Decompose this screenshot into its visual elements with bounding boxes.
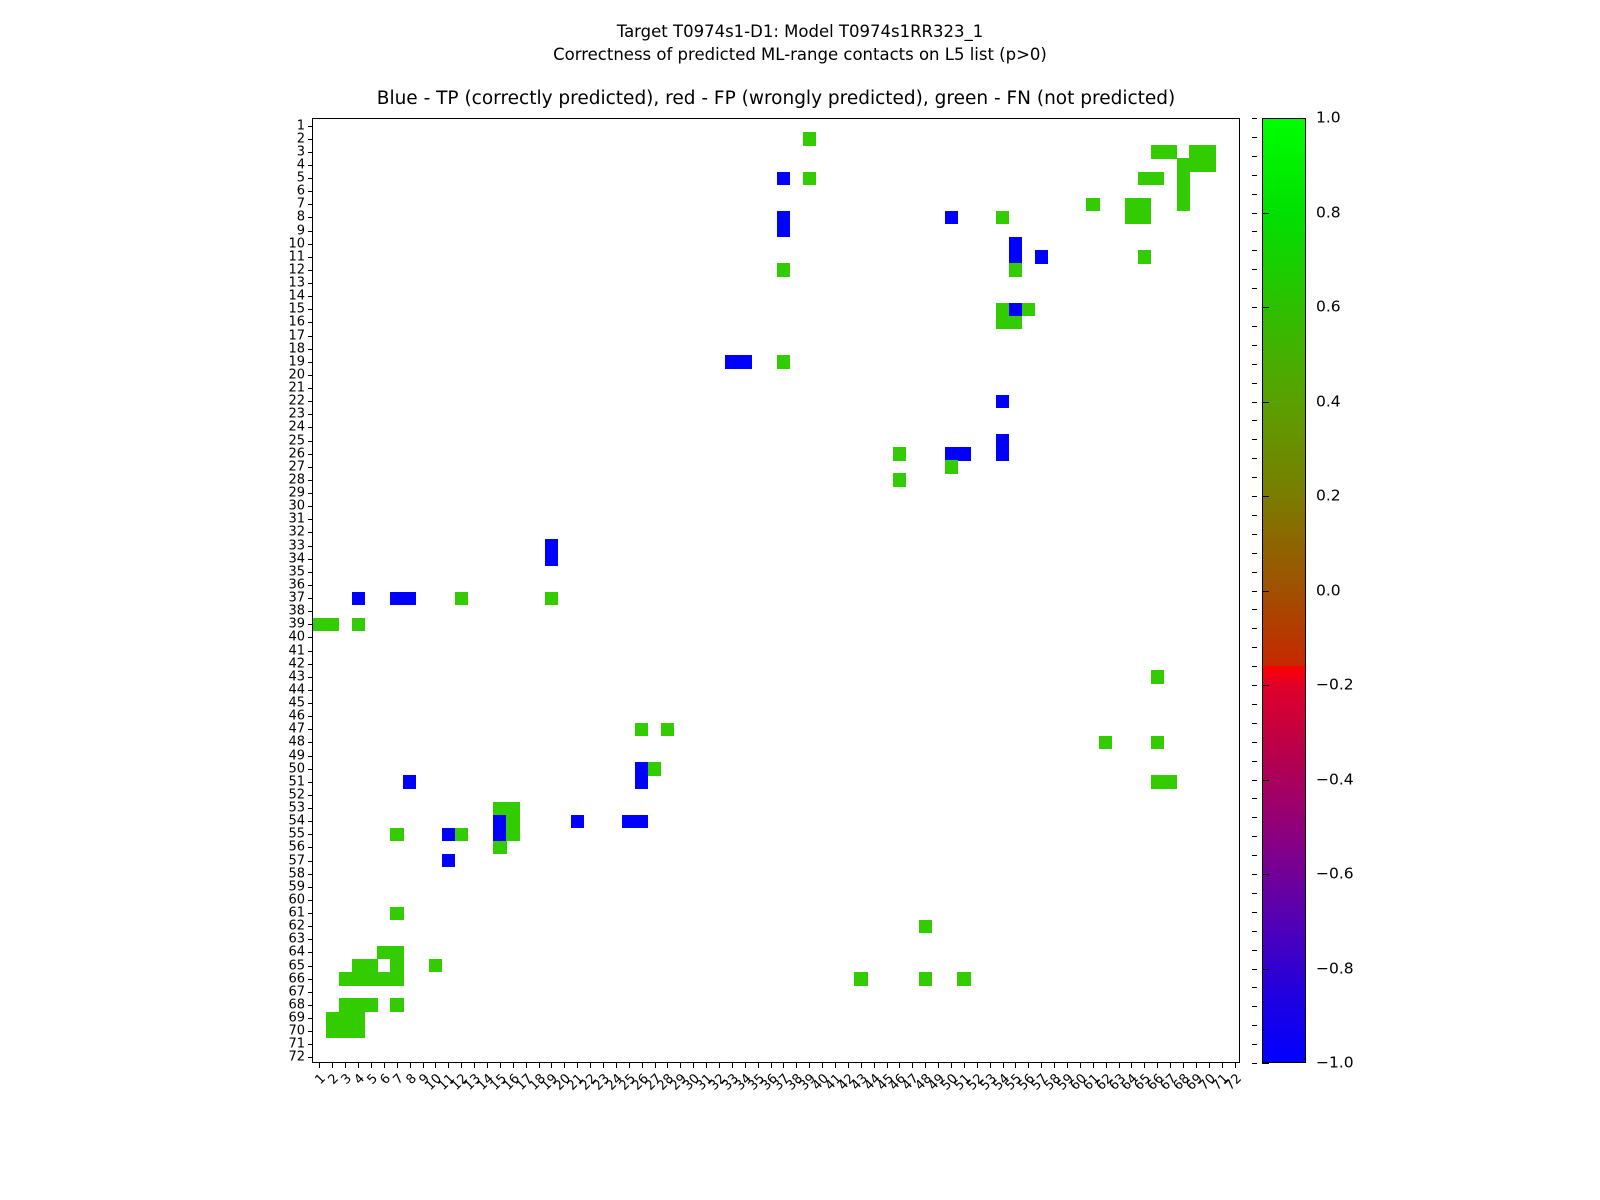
- colorbar-minor-tick: [1252, 987, 1257, 988]
- colorbar-minor-tick: [1252, 439, 1257, 440]
- colorbar-minor-tick: [1252, 269, 1257, 270]
- colorbar-tick-label: −0.6: [1316, 866, 1354, 882]
- y-tick-mark: [308, 992, 314, 993]
- contact-cell: [854, 972, 867, 985]
- y-tick-label: 49: [265, 749, 305, 762]
- y-tick-label: 7: [265, 198, 305, 211]
- x-tick-mark: [487, 1062, 488, 1068]
- x-tick-mark: [474, 1062, 475, 1068]
- y-tick-label: 33: [265, 539, 305, 552]
- y-tick-mark: [308, 427, 314, 428]
- x-tick-mark: [1054, 1062, 1055, 1068]
- contact-cell: [635, 762, 648, 775]
- x-tick-mark: [706, 1062, 707, 1068]
- contact-cell: [957, 447, 970, 460]
- y-tick-label: 65: [265, 959, 305, 972]
- colorbar-minor-tick: [1252, 213, 1257, 214]
- colorbar-tick-label: 0.8: [1316, 205, 1341, 221]
- contact-cell: [635, 775, 648, 788]
- colorbar-tick-label: 1.0: [1316, 110, 1341, 126]
- x-tick-mark: [938, 1062, 939, 1068]
- y-tick-mark: [308, 519, 314, 520]
- contact-cell: [390, 998, 403, 1011]
- y-tick-mark: [308, 979, 314, 980]
- y-tick-mark: [308, 952, 314, 953]
- contact-cell: [442, 854, 455, 867]
- y-tick-label: 45: [265, 697, 305, 710]
- x-tick-mark: [551, 1062, 552, 1068]
- y-tick-mark: [308, 152, 314, 153]
- y-tick-mark: [308, 887, 314, 888]
- y-tick-mark: [308, 480, 314, 481]
- x-tick-mark: [667, 1062, 668, 1068]
- y-tick-mark: [308, 1005, 314, 1006]
- contact-cell: [313, 618, 326, 631]
- y-tick-label: 64: [265, 946, 305, 959]
- contact-cell: [1138, 172, 1151, 185]
- y-tick-mark: [308, 847, 314, 848]
- y-tick-mark: [308, 651, 314, 652]
- contact-cell: [777, 224, 790, 237]
- contact-cell: [390, 907, 403, 920]
- y-tick-label: 16: [265, 316, 305, 329]
- colorbar-minor-tick: [1252, 553, 1257, 554]
- colorbar-minor-tick: [1252, 1006, 1257, 1007]
- colorbar-tick-mark: [1262, 307, 1269, 308]
- y-tick-label: 50: [265, 762, 305, 775]
- contact-cell: [403, 592, 416, 605]
- contact-cell: [1009, 250, 1022, 263]
- contact-cell: [996, 395, 1009, 408]
- x-tick-mark: [1067, 1062, 1068, 1068]
- colorbar-minor-tick: [1252, 175, 1257, 176]
- colorbar-minor-tick: [1252, 307, 1257, 308]
- colorbar-tick-mark: [1262, 874, 1269, 875]
- y-tick-label: 9: [265, 224, 305, 237]
- y-tick-label: 28: [265, 473, 305, 486]
- x-tick-mark: [1119, 1062, 1120, 1068]
- x-tick-mark: [1235, 1062, 1236, 1068]
- colorbar-minor-tick: [1252, 647, 1257, 648]
- y-tick-mark: [308, 546, 314, 547]
- y-tick-label: 71: [265, 1038, 305, 1051]
- y-tick-mark: [308, 532, 314, 533]
- x-tick-mark: [461, 1062, 462, 1068]
- y-tick-label: 1: [265, 119, 305, 132]
- y-tick-mark: [308, 716, 314, 717]
- y-tick-mark: [308, 283, 314, 284]
- colorbar-minor-tick: [1252, 458, 1257, 459]
- y-tick-label: 62: [265, 920, 305, 933]
- y-tick-label: 38: [265, 605, 305, 618]
- contact-cell: [545, 552, 558, 565]
- y-tick-label: 23: [265, 408, 305, 421]
- x-tick-mark: [448, 1062, 449, 1068]
- contact-cells-layer: [313, 119, 1239, 1062]
- contact-cell: [635, 723, 648, 736]
- contact-cell: [1164, 775, 1177, 788]
- contact-cell: [455, 592, 468, 605]
- contact-cell: [893, 447, 906, 460]
- y-tick-mark: [308, 821, 314, 822]
- x-tick-mark: [1144, 1062, 1145, 1068]
- colorbar-minor-tick: [1252, 194, 1257, 195]
- x-tick-mark: [1015, 1062, 1016, 1068]
- colorbar-tick-mark: [1262, 780, 1269, 781]
- contact-cell: [1164, 145, 1177, 158]
- x-tick-mark: [899, 1062, 900, 1068]
- x-tick-mark: [1196, 1062, 1197, 1068]
- y-tick-label: 46: [265, 710, 305, 723]
- contact-cell: [352, 959, 365, 972]
- y-tick-label: 20: [265, 368, 305, 381]
- x-tick-mark: [590, 1062, 591, 1068]
- title-line-2: Correctness of predicted ML-range contac…: [0, 43, 1600, 66]
- y-tick-label: 19: [265, 355, 305, 368]
- contact-cell: [352, 1012, 365, 1025]
- y-tick-label: 43: [265, 670, 305, 683]
- x-tick-mark: [745, 1062, 746, 1068]
- contact-cell: [429, 959, 442, 972]
- y-tick-label: 44: [265, 683, 305, 696]
- colorbar-minor-tick: [1252, 685, 1257, 686]
- y-tick-mark: [308, 454, 314, 455]
- y-tick-mark: [308, 637, 314, 638]
- contact-cell: [1177, 198, 1190, 211]
- contact-cell: [493, 802, 506, 815]
- y-tick-mark: [308, 808, 314, 809]
- y-tick-label: 36: [265, 578, 305, 591]
- x-tick-mark: [435, 1062, 436, 1068]
- contact-cell: [326, 1025, 339, 1038]
- contact-cell: [390, 592, 403, 605]
- contact-cell: [455, 828, 468, 841]
- contact-cell: [1202, 158, 1215, 171]
- contact-cell: [365, 959, 378, 972]
- colorbar-tick-label: −1.0: [1316, 1055, 1354, 1071]
- contact-cell: [493, 828, 506, 841]
- colorbar-minor-tick: [1252, 969, 1257, 970]
- x-tick-mark: [577, 1062, 578, 1068]
- x-tick-mark: [693, 1062, 694, 1068]
- x-tick-mark: [1131, 1062, 1132, 1068]
- contact-cell: [1009, 303, 1022, 316]
- y-tick-mark: [308, 257, 314, 258]
- contact-cell: [1125, 211, 1138, 224]
- x-tick-mark: [1209, 1062, 1210, 1068]
- y-tick-label: 51: [265, 775, 305, 788]
- colorbar-minor-tick: [1252, 591, 1257, 592]
- y-tick-mark: [308, 244, 314, 245]
- contact-cell: [365, 972, 378, 985]
- contact-cell: [1151, 145, 1164, 158]
- x-tick-mark: [874, 1062, 875, 1068]
- y-tick-mark: [308, 493, 314, 494]
- x-tick-mark: [603, 1062, 604, 1068]
- colorbar-ticks: 1.00.80.60.40.20.0−0.2−0.4−0.6−0.8−1.0: [1262, 118, 1306, 1063]
- contact-cell: [1009, 263, 1022, 276]
- x-tick-mark: [809, 1062, 810, 1068]
- x-tick-mark: [500, 1062, 501, 1068]
- contact-cell: [1035, 250, 1048, 263]
- y-tick-mark: [308, 966, 314, 967]
- contact-cell: [1138, 198, 1151, 211]
- y-tick-label: 27: [265, 460, 305, 473]
- y-tick-label: 35: [265, 565, 305, 578]
- colorbar-minor-tick: [1252, 364, 1257, 365]
- contact-map-figure: Target T0974s1-D1: Model T0974s1RR323_1 …: [0, 0, 1600, 1200]
- y-tick-label: 72: [265, 1051, 305, 1064]
- y-tick-label: 21: [265, 382, 305, 395]
- colorbar-minor-tick: [1252, 912, 1257, 913]
- contact-cell: [1151, 736, 1164, 749]
- y-tick-mark: [308, 782, 314, 783]
- contact-cell: [996, 303, 1009, 316]
- colorbar-tick-label: 0.6: [1316, 299, 1341, 315]
- x-tick-mark: [1041, 1062, 1042, 1068]
- y-tick-mark: [308, 349, 314, 350]
- contact-cell: [493, 841, 506, 854]
- y-tick-mark: [308, 139, 314, 140]
- y-tick-label: 42: [265, 657, 305, 670]
- contact-cell: [777, 172, 790, 185]
- contact-cell: [377, 946, 390, 959]
- y-tick-mark: [308, 270, 314, 271]
- colorbar-tick-label: 0.2: [1316, 488, 1341, 504]
- y-tick-mark: [308, 309, 314, 310]
- y-tick-mark: [308, 126, 314, 127]
- contact-cell: [1151, 670, 1164, 683]
- y-tick-label: 37: [265, 592, 305, 605]
- contact-cell: [493, 815, 506, 828]
- contact-cell: [1189, 145, 1202, 158]
- y-tick-mark: [308, 690, 314, 691]
- contact-cell: [1202, 145, 1215, 158]
- contact-cell: [545, 539, 558, 552]
- axes-legend-note: Blue - TP (correctly predicted), red - F…: [312, 88, 1240, 109]
- colorbar-tick-mark: [1262, 118, 1269, 119]
- y-tick-label: 57: [265, 854, 305, 867]
- x-tick-mark: [848, 1062, 849, 1068]
- contact-cell: [803, 132, 816, 145]
- y-tick-label: 4: [265, 158, 305, 171]
- colorbar-minor-tick: [1252, 1044, 1257, 1045]
- y-tick-mark: [308, 1057, 314, 1058]
- contact-cell: [377, 972, 390, 985]
- y-tick-label: 10: [265, 237, 305, 250]
- y-tick-mark: [308, 217, 314, 218]
- y-tick-label: 69: [265, 1012, 305, 1025]
- y-tick-mark: [308, 1044, 314, 1045]
- colorbar-minor-tick: [1252, 118, 1257, 119]
- y-tick-label: 54: [265, 815, 305, 828]
- y-tick-mark: [308, 900, 314, 901]
- x-tick-mark: [964, 1062, 965, 1068]
- y-tick-mark: [308, 624, 314, 625]
- x-tick-mark: [990, 1062, 991, 1068]
- y-tick-label: 26: [265, 447, 305, 460]
- x-tick-mark: [887, 1062, 888, 1068]
- contact-cell: [996, 447, 1009, 460]
- contact-map-axes: 1234567891011121314151617181920212223242…: [312, 118, 1240, 1063]
- x-tick-mark: [1170, 1062, 1171, 1068]
- contact-cell: [365, 998, 378, 1011]
- colorbar-minor-tick: [1252, 931, 1257, 932]
- contact-cell: [777, 211, 790, 224]
- contact-cell: [996, 211, 1009, 224]
- contact-cell: [1151, 775, 1164, 788]
- colorbar-minor-tick: [1252, 836, 1257, 837]
- y-tick-mark: [308, 375, 314, 376]
- contact-cell: [803, 172, 816, 185]
- y-tick-mark: [308, 795, 314, 796]
- y-tick-mark: [308, 165, 314, 166]
- colorbar-minor-tick: [1252, 156, 1257, 157]
- x-tick-mark: [410, 1062, 411, 1068]
- contact-cell: [777, 355, 790, 368]
- colorbar-tick-mark: [1262, 969, 1269, 970]
- x-tick-mark: [539, 1062, 540, 1068]
- y-tick-label: 22: [265, 395, 305, 408]
- y-tick-label: 53: [265, 802, 305, 815]
- x-tick-mark: [345, 1062, 346, 1068]
- colorbar-tick-label: 0.0: [1316, 583, 1341, 599]
- contact-cell: [1189, 158, 1202, 171]
- y-tick-label: 5: [265, 172, 305, 185]
- contact-cell: [390, 828, 403, 841]
- contact-cell: [777, 263, 790, 276]
- x-tick-mark: [732, 1062, 733, 1068]
- colorbar-minor-tick: [1252, 609, 1257, 610]
- contact-cell: [648, 762, 661, 775]
- colorbar-minor-tick: [1252, 496, 1257, 497]
- y-tick-mark: [308, 322, 314, 323]
- contact-cell: [725, 355, 738, 368]
- x-tick-mark: [358, 1062, 359, 1068]
- y-tick-mark: [308, 441, 314, 442]
- contact-cell: [996, 434, 1009, 447]
- contact-cell: [1099, 736, 1112, 749]
- contact-cell: [339, 972, 352, 985]
- y-tick-label: 12: [265, 263, 305, 276]
- contact-cell: [1151, 172, 1164, 185]
- y-tick-label: 13: [265, 277, 305, 290]
- contact-cell: [352, 618, 365, 631]
- colorbar-tick-label: 0.4: [1316, 394, 1341, 410]
- contact-cell: [352, 1025, 365, 1038]
- x-tick-mark: [332, 1062, 333, 1068]
- contact-cell: [339, 1012, 352, 1025]
- colorbar-minor-tick: [1252, 345, 1257, 346]
- x-tick-mark: [1080, 1062, 1081, 1068]
- contact-cell: [545, 592, 558, 605]
- y-tick-label: 39: [265, 618, 305, 631]
- x-tick-mark: [655, 1062, 656, 1068]
- contact-cell: [326, 1012, 339, 1025]
- y-tick-mark: [308, 769, 314, 770]
- x-tick-mark: [951, 1062, 952, 1068]
- contact-cell: [635, 815, 648, 828]
- colorbar-minor-tick: [1252, 761, 1257, 762]
- contact-cell: [352, 998, 365, 1011]
- y-tick-label: 55: [265, 828, 305, 841]
- y-tick-label: 47: [265, 723, 305, 736]
- colorbar-tick-mark: [1262, 685, 1269, 686]
- x-tick-mark: [783, 1062, 784, 1068]
- contact-cell: [1009, 316, 1022, 329]
- colorbar-tick-label: −0.8: [1316, 961, 1354, 977]
- x-tick-mark: [719, 1062, 720, 1068]
- contact-cell: [1086, 198, 1099, 211]
- y-tick-label: 70: [265, 1025, 305, 1038]
- contact-cell: [403, 775, 416, 788]
- y-tick-mark: [308, 572, 314, 573]
- x-tick-mark: [1093, 1062, 1094, 1068]
- colorbar-tick-mark: [1262, 402, 1269, 403]
- y-tick-mark: [308, 296, 314, 297]
- x-tick-mark: [629, 1062, 630, 1068]
- y-tick-mark: [308, 362, 314, 363]
- y-tick-label: 6: [265, 185, 305, 198]
- y-tick-label: 24: [265, 421, 305, 434]
- contact-cell: [506, 828, 519, 841]
- y-tick-mark: [308, 861, 314, 862]
- y-tick-mark: [308, 913, 314, 914]
- colorbar-tick-label: −0.4: [1316, 772, 1354, 788]
- y-tick-mark: [308, 756, 314, 757]
- y-tick-mark: [308, 467, 314, 468]
- contact-cell: [919, 920, 932, 933]
- x-tick-mark: [835, 1062, 836, 1068]
- colorbar-minor-tick: [1252, 742, 1257, 743]
- y-tick-label: 30: [265, 500, 305, 513]
- colorbar-minor-tick: [1252, 893, 1257, 894]
- colorbar-minor-tick: [1252, 231, 1257, 232]
- colorbar-minor-tick: [1252, 780, 1257, 781]
- y-tick-label: 56: [265, 841, 305, 854]
- x-tick-mark: [1183, 1062, 1184, 1068]
- contact-cell: [390, 946, 403, 959]
- y-tick-label: 14: [265, 290, 305, 303]
- colorbar-minor-tick: [1252, 704, 1257, 705]
- y-tick-label: 40: [265, 631, 305, 644]
- x-tick-mark: [1003, 1062, 1004, 1068]
- y-tick-mark: [308, 834, 314, 835]
- colorbar-minor-tick: [1252, 798, 1257, 799]
- colorbar-minor-tick: [1252, 288, 1257, 289]
- contact-cell: [622, 815, 635, 828]
- contact-cell: [893, 473, 906, 486]
- contact-cell: [1138, 211, 1151, 224]
- colorbar-tick-mark: [1262, 1063, 1269, 1064]
- y-tick-label: 59: [265, 880, 305, 893]
- colorbar-minor-tick: [1252, 402, 1257, 403]
- y-tick-label: 66: [265, 972, 305, 985]
- y-tick-mark: [308, 742, 314, 743]
- contact-cell: [996, 316, 1009, 329]
- y-tick-mark: [308, 414, 314, 415]
- contact-cell: [571, 815, 584, 828]
- colorbar-minor-tick: [1252, 817, 1257, 818]
- colorbar-minor-tick: [1252, 515, 1257, 516]
- y-tick-mark: [308, 677, 314, 678]
- y-tick-mark: [308, 611, 314, 612]
- x-tick-mark: [513, 1062, 514, 1068]
- colorbar-minor-tick: [1252, 628, 1257, 629]
- x-tick-mark: [423, 1062, 424, 1068]
- y-tick-mark: [308, 388, 314, 389]
- x-tick-mark: [371, 1062, 372, 1068]
